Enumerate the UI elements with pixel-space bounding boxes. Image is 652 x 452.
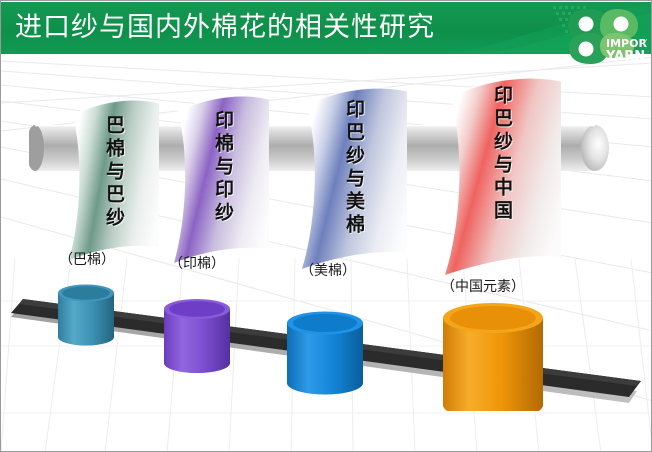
clover-logo-icon: IMPORTED YARN — [559, 3, 647, 67]
panel-4-text: 印巴纱与中国 — [489, 85, 514, 223]
title-underline — [1, 54, 651, 56]
logo: IMPORTED YARN — [559, 3, 647, 67]
curved-panel-4[interactable]: 印巴纱与中国 — [433, 75, 575, 273]
cylinder-3 — [287, 312, 363, 395]
curved-panel-3[interactable]: 印巴纱与美棉 — [291, 85, 419, 267]
panel-2-text: 印棉与印纱 — [210, 110, 235, 225]
title-bar: 进口纱与国内外棉花的相关性研究 — [1, 2, 651, 54]
page-title: 进口纱与国内外棉花的相关性研究 — [15, 8, 435, 48]
curved-panel-2[interactable]: 印棉与印纱 — [164, 93, 279, 261]
logo-line2: YARN — [605, 49, 645, 64]
slide-canvas: 进口纱与国内外棉花的相关性研究 IMPORTED YARN — [0, 0, 652, 452]
panel-1-text: 巴棉与巴纱 — [101, 115, 126, 230]
cylinder-4 — [443, 303, 543, 411]
curved-panel-1[interactable]: 巴棉与巴纱 — [59, 97, 169, 257]
panel-1-caption: （巴棉） — [59, 249, 115, 269]
panel-3-text: 印巴纱与美棉 — [341, 99, 366, 237]
cylinder-1 — [58, 285, 114, 346]
panel-2-caption: （印棉） — [169, 253, 225, 273]
cylinder-2 — [164, 299, 230, 373]
base-platform-and-cylinders — [1, 271, 652, 411]
